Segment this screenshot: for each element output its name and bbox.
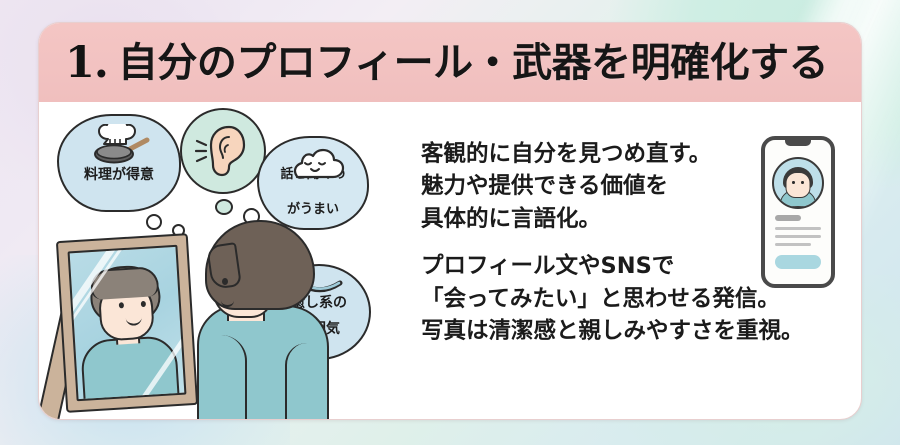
para2-line2: 「会ってみたい」と思わせる発信。: [421, 283, 759, 315]
mirror-glass: [68, 245, 187, 401]
infographic-stage: 1. 自分のプロフィール・武器を明確化する: [0, 0, 900, 445]
person-arm-left: [215, 335, 247, 419]
para1-line1: 客観的に自分を見つめ直す。: [421, 138, 759, 170]
para2-line1: プロフィール文やSNSで: [421, 250, 759, 282]
chef-hat-and-frying-pan-icon: [90, 124, 152, 164]
bubble-label-cooking: 料理が得意: [84, 168, 154, 184]
avatar: [772, 157, 824, 209]
avatar-eye-right: [801, 181, 804, 184]
ear-icon: [195, 121, 251, 181]
phone-text-line-1: [775, 227, 821, 230]
card-body: 料理が得意: [39, 102, 861, 420]
content-card: 1. 自分のプロフィール・武器を明確化する: [38, 22, 862, 420]
phone-notch: [785, 139, 811, 146]
person-arm-right: [285, 343, 313, 419]
description-text-block: 客観的に自分を見つめ直す。 魅力や提供できる価値を 具体的に言語化。 プロフィー…: [421, 138, 759, 347]
thought-bubble-ear: [180, 108, 266, 194]
thought-bubble-cooking: 料理が得意: [57, 114, 181, 212]
para1-line2: 魅力や提供できる価値を: [421, 170, 759, 202]
phone-name-placeholder: [775, 215, 801, 221]
paragraph-self-analysis: 客観的に自分を見つめ直す。 魅力や提供できる価値を 具体的に言語化。: [421, 138, 759, 235]
phone-action-button: [775, 255, 821, 269]
standing-mirror: [56, 233, 198, 413]
avatar-face: [786, 172, 811, 198]
paragraph-profile-sns: プロフィール文やSNSで 「会ってみたい」と思わせる発信。 写真は清潔感と親しみ…: [421, 250, 759, 347]
bubble-tail-ear: [215, 199, 233, 215]
smartphone-profile-mockup: [761, 136, 835, 288]
person-eye: [222, 278, 228, 285]
avatar-eye-left: [792, 181, 795, 184]
illustration-panel: 料理が得意: [39, 102, 419, 420]
person-body: [197, 305, 329, 420]
phone-text-line-3: [775, 243, 811, 246]
person-looking-in-mirror: [191, 214, 331, 420]
phone-text-line-2: [775, 235, 821, 238]
page-title: 自分のプロフィール・武器を明確化する: [118, 43, 828, 83]
thought-dot-1: [146, 214, 162, 230]
smiling-cloud-icon: [285, 147, 345, 181]
para1-line3: 具体的に言語化。: [421, 203, 759, 235]
para2-line3: 写真は清潔感と親しみやすさを重視。: [421, 315, 759, 347]
step-number: 1.: [65, 38, 108, 88]
header-band: 1. 自分のプロフィール・武器を明確化する: [39, 23, 861, 102]
